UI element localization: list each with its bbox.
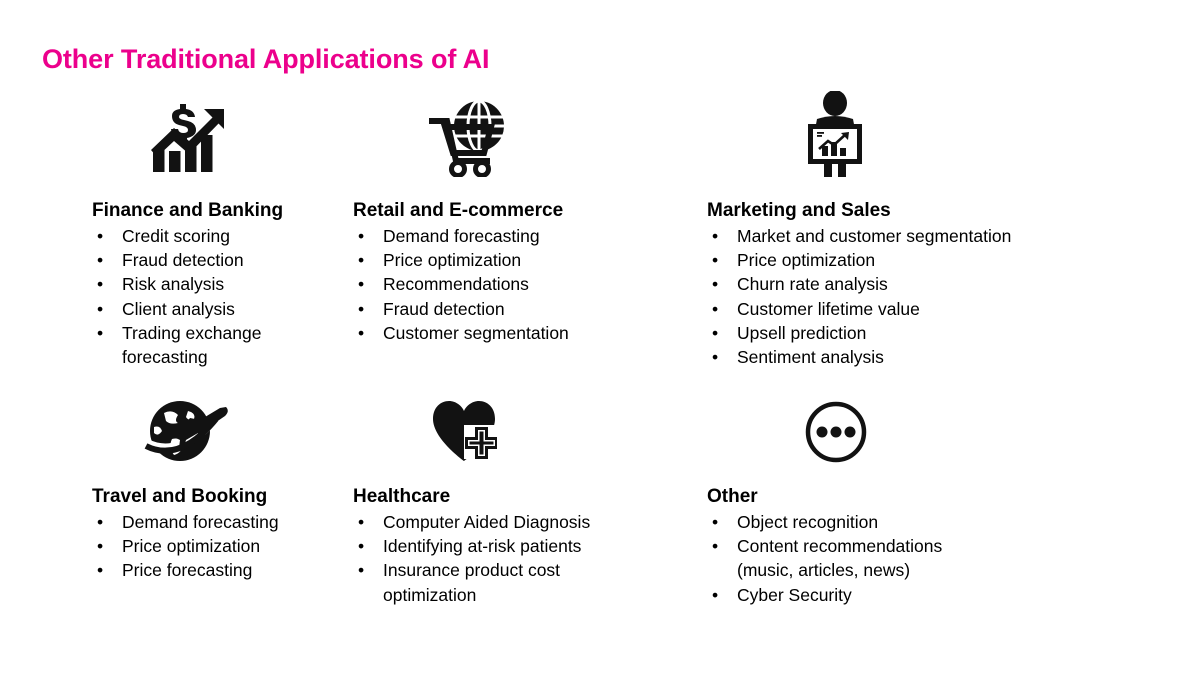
list-item: •Risk analysis — [92, 272, 345, 296]
list-item-label: Upsell prediction — [737, 323, 866, 343]
list-item: •Price optimization — [353, 248, 695, 272]
list-item-label: Market and customer segmentation — [737, 226, 1011, 246]
category-title: Other — [707, 485, 1125, 508]
list-item: •Price forecasting — [92, 558, 345, 582]
category-healthcare: Healthcare •Computer Aided Diagnosis •Id… — [345, 386, 695, 607]
list-item-label: Customer segmentation — [383, 323, 569, 343]
bullet-dot: • — [712, 297, 718, 321]
icon-container-other — [707, 386, 1125, 468]
list-item-label: Risk analysis — [122, 274, 224, 294]
bullet-dot: • — [97, 558, 103, 582]
bullet-list-other: •Object recognition •Content recommendat… — [707, 510, 1125, 607]
category-grid: Finance and Banking •Credit scoring •Fra… — [0, 96, 1200, 616]
list-item-label: Computer Aided Diagnosis — [383, 512, 590, 532]
bullet-dot: • — [97, 510, 103, 534]
list-item-label: Trading exchange forecasting — [122, 323, 261, 367]
bullet-dot: • — [712, 534, 718, 558]
icon-container-retail — [353, 96, 695, 182]
category-retail: Retail and E-commerce •Demand forecastin… — [345, 96, 695, 345]
list-item-label: Sentiment analysis — [737, 347, 884, 367]
list-item-label: Customer lifetime value — [737, 299, 920, 319]
list-item-label: Demand forecasting — [122, 512, 279, 532]
shopping-cart-globe-icon — [429, 99, 509, 182]
bullet-dot: • — [712, 345, 718, 369]
list-item-label: Price forecasting — [122, 560, 252, 580]
icon-container-finance — [92, 96, 345, 182]
list-item: •Content recommendations (music, article… — [707, 534, 1125, 582]
list-item-label: Content recommendations (music, articles… — [737, 536, 942, 580]
bullet-list-retail: •Demand forecasting •Price optimization … — [353, 224, 695, 345]
bullet-dot: • — [97, 321, 103, 345]
bullet-dot: • — [712, 248, 718, 272]
bullet-dot: • — [358, 272, 364, 296]
list-item: •Trading exchange forecasting — [92, 321, 345, 369]
list-item-label: Fraud detection — [122, 250, 244, 270]
category-marketing: Marketing and Sales •Market and customer… — [695, 96, 1125, 369]
bullet-dot: • — [97, 248, 103, 272]
category-finance: Finance and Banking •Credit scoring •Fra… — [0, 96, 345, 369]
bullet-dot: • — [97, 534, 103, 558]
list-item-label: Churn rate analysis — [737, 274, 888, 294]
list-item: •Fraud detection — [92, 248, 345, 272]
list-item: •Fraud detection — [353, 297, 695, 321]
bullet-dot: • — [358, 321, 364, 345]
list-item: •Insurance product cost optimization — [353, 558, 695, 606]
page-title: Other Traditional Applications of AI — [42, 44, 489, 75]
bullet-dot: • — [358, 510, 364, 534]
category-title: Marketing and Sales — [707, 199, 1125, 222]
icon-container-travel — [92, 386, 345, 468]
heart-medical-cross-icon — [431, 399, 497, 468]
list-item: •Sentiment analysis — [707, 345, 1125, 369]
list-item: •Computer Aided Diagnosis — [353, 510, 695, 534]
category-travel: Travel and Booking •Demand forecasting •… — [0, 386, 345, 583]
category-title: Healthcare — [353, 485, 695, 508]
bullet-dot: • — [358, 558, 364, 582]
icon-container-healthcare — [353, 386, 695, 468]
list-item-label: Recommendations — [383, 274, 529, 294]
list-item: •Upsell prediction — [707, 321, 1125, 345]
icon-container-marketing — [707, 96, 1125, 182]
list-item: •Cyber Security — [707, 583, 1125, 607]
list-item-label: Client analysis — [122, 299, 235, 319]
list-item: •Churn rate analysis — [707, 272, 1125, 296]
list-item: •Client analysis — [92, 297, 345, 321]
bullet-dot: • — [97, 224, 103, 248]
list-item-label: Price optimization — [122, 536, 260, 556]
bullet-list-travel: •Demand forecasting •Price optimization … — [92, 510, 345, 583]
ellipsis-circle-icon — [805, 401, 867, 468]
list-item: •Customer segmentation — [353, 321, 695, 345]
bullet-dot: • — [97, 272, 103, 296]
bullet-dot: • — [358, 534, 364, 558]
bullet-dot: • — [712, 272, 718, 296]
bullet-dot: • — [358, 297, 364, 321]
list-item-label: Credit scoring — [122, 226, 230, 246]
list-item-label: Fraud detection — [383, 299, 505, 319]
bullet-dot: • — [358, 224, 364, 248]
category-row-bottom: Travel and Booking •Demand forecasting •… — [0, 386, 1200, 616]
list-item-label: Identifying at-risk patients — [383, 536, 581, 556]
list-item: •Credit scoring — [92, 224, 345, 248]
bullet-list-finance: •Credit scoring •Fraud detection •Risk a… — [92, 224, 345, 369]
category-title: Retail and E-commerce — [353, 199, 695, 222]
category-other: Other •Object recognition •Content recom… — [695, 386, 1125, 607]
growth-chart-dollar-icon — [144, 101, 230, 182]
list-item-label: Price optimization — [737, 250, 875, 270]
list-item: •Price optimization — [92, 534, 345, 558]
bullet-dot: • — [97, 297, 103, 321]
list-item-label: Insurance product cost optimization — [383, 560, 560, 604]
list-item-label: Object recognition — [737, 512, 878, 532]
list-item: •Demand forecasting — [353, 224, 695, 248]
list-item-label: Price optimization — [383, 250, 521, 270]
presenter-chart-board-icon — [802, 91, 868, 182]
list-item: •Market and customer segmentation — [707, 224, 1125, 248]
list-item: •Demand forecasting — [92, 510, 345, 534]
bullet-dot: • — [712, 510, 718, 534]
list-item: •Customer lifetime value — [707, 297, 1125, 321]
bullet-dot: • — [358, 248, 364, 272]
list-item: •Object recognition — [707, 510, 1125, 534]
category-title: Travel and Booking — [92, 485, 345, 508]
bullet-dot: • — [712, 321, 718, 345]
slide-canvas: Other Traditional Applications of AI — [0, 0, 1200, 675]
list-item-label: Demand forecasting — [383, 226, 540, 246]
bullet-dot: • — [712, 583, 718, 607]
list-item: •Recommendations — [353, 272, 695, 296]
bullet-list-marketing: •Market and customer segmentation •Price… — [707, 224, 1125, 369]
list-item: •Price optimization — [707, 248, 1125, 272]
bullet-list-healthcare: •Computer Aided Diagnosis •Identifying a… — [353, 510, 695, 607]
globe-airplane-icon — [144, 399, 230, 468]
list-item-label: Cyber Security — [737, 585, 852, 605]
list-item: •Identifying at-risk patients — [353, 534, 695, 558]
bullet-dot: • — [712, 224, 718, 248]
category-title: Finance and Banking — [92, 199, 345, 222]
category-row-top: Finance and Banking •Credit scoring •Fra… — [0, 96, 1200, 386]
